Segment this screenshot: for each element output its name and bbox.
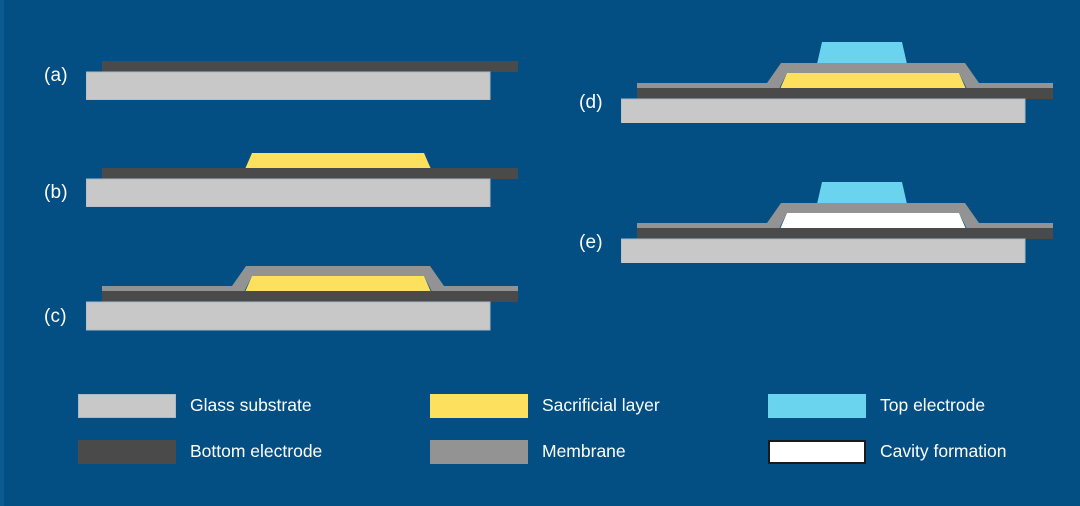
legend-label-sacrificial-layer: Sacrificial layer xyxy=(542,397,660,415)
membrane-swatch xyxy=(430,440,528,464)
layer-glass-substrate xyxy=(621,99,1025,123)
legend-label-glass-substrate: Glass substrate xyxy=(190,397,312,415)
legend-item-cavity-formation: Cavity formation xyxy=(768,440,1006,464)
panel-d: (d) xyxy=(575,35,1045,125)
legend-label-bottom-electrode: Bottom electrode xyxy=(190,443,322,461)
layer-bottom-electrode xyxy=(637,228,1053,239)
legend-label-top-electrode: Top electrode xyxy=(880,397,985,415)
layer-bottom-electrode xyxy=(637,88,1053,99)
panel-label-c: (c) xyxy=(44,306,67,328)
legend-item-top-electrode: Top electrode xyxy=(768,394,985,418)
panel-d-cross-section xyxy=(621,35,1080,123)
layer-bottom-electrode xyxy=(102,61,518,72)
top-electrode-swatch xyxy=(768,394,866,418)
panel-a: (a) xyxy=(40,40,510,100)
legend-item-glass-substrate: Glass substrate xyxy=(78,394,312,418)
panel-b-cross-section xyxy=(86,145,546,207)
legend-column-2: Sacrificial layer Membrane xyxy=(430,380,790,480)
legend-item-membrane: Membrane xyxy=(430,440,626,464)
legend-column-1: Glass substrate Bottom electrode xyxy=(78,380,438,480)
sacrificial-layer-swatch xyxy=(430,394,528,418)
legend-item-bottom-electrode: Bottom electrode xyxy=(78,440,322,464)
panel-c-cross-section xyxy=(86,258,546,336)
legend-label-membrane: Membrane xyxy=(542,443,626,461)
glass-substrate-swatch xyxy=(78,394,176,418)
layer-glass-substrate xyxy=(621,239,1025,263)
layer-bottom-electrode xyxy=(102,291,518,302)
figure-root: (a) (b) (c) xyxy=(0,0,1080,506)
layer-glass-substrate xyxy=(86,179,490,207)
layer-top-electrode xyxy=(817,182,907,204)
panel-a-cross-section xyxy=(86,50,546,100)
panel-label-e: (e) xyxy=(579,232,603,254)
layer-glass-substrate xyxy=(86,302,490,330)
legend: Glass substrate Bottom electrode Sacrifi… xyxy=(0,380,1080,480)
cavity-formation-swatch xyxy=(768,440,866,464)
layer-top-electrode xyxy=(817,42,907,64)
legend-label-cavity-formation: Cavity formation xyxy=(880,443,1006,461)
layer-bottom-electrode xyxy=(102,168,518,179)
layer-glass-substrate xyxy=(86,72,490,100)
panel-b: (b) xyxy=(40,145,510,210)
panel-label-b: (b) xyxy=(44,182,68,204)
panel-label-a: (a) xyxy=(44,65,68,87)
bottom-electrode-swatch xyxy=(78,440,176,464)
panel-label-d: (d) xyxy=(579,92,603,114)
panel-c: (c) xyxy=(40,258,510,338)
legend-column-3: Top electrode Cavity formation xyxy=(768,380,1080,480)
panel-e-cross-section xyxy=(621,175,1080,263)
panel-e: (e) xyxy=(575,175,1045,265)
legend-item-sacrificial-layer: Sacrificial layer xyxy=(430,394,660,418)
